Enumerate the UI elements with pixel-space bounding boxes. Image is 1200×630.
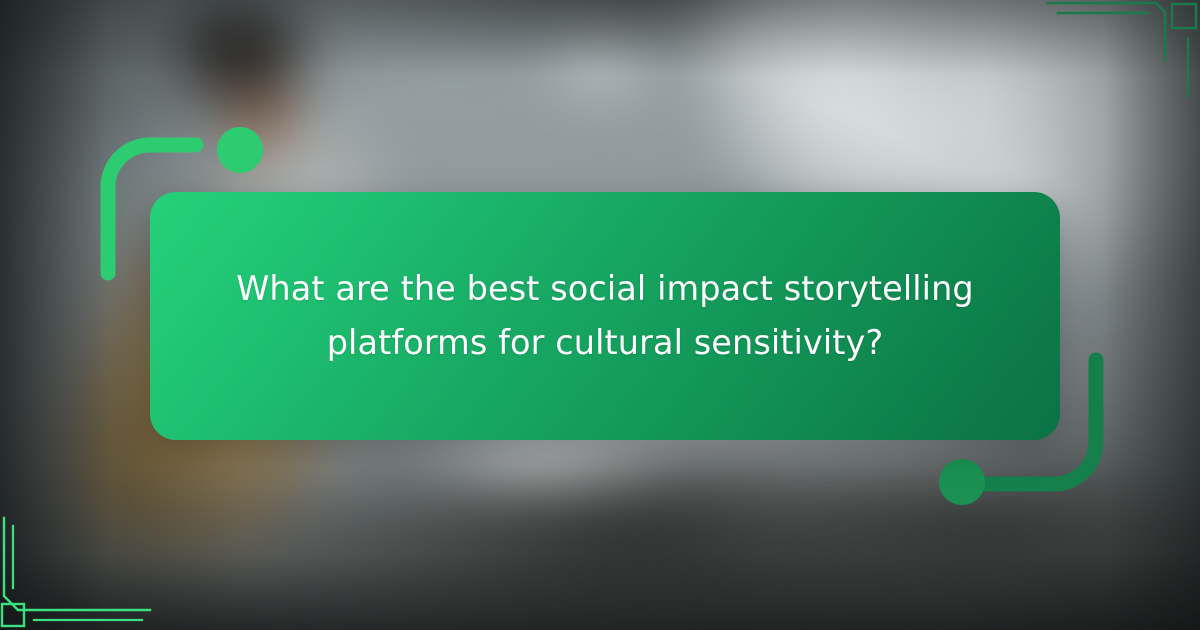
circuit-trace-top-right-icon — [1030, 0, 1200, 120]
accent-dot-bottom-right — [939, 459, 985, 505]
question-card: What are the best social impact storytel… — [150, 192, 1060, 440]
circuit-trace-bottom-left-icon — [0, 500, 180, 630]
accent-dot-top-left — [217, 127, 263, 173]
social-share-card: What are the best social impact storytel… — [0, 0, 1200, 630]
question-text: What are the best social impact storytel… — [235, 262, 975, 371]
